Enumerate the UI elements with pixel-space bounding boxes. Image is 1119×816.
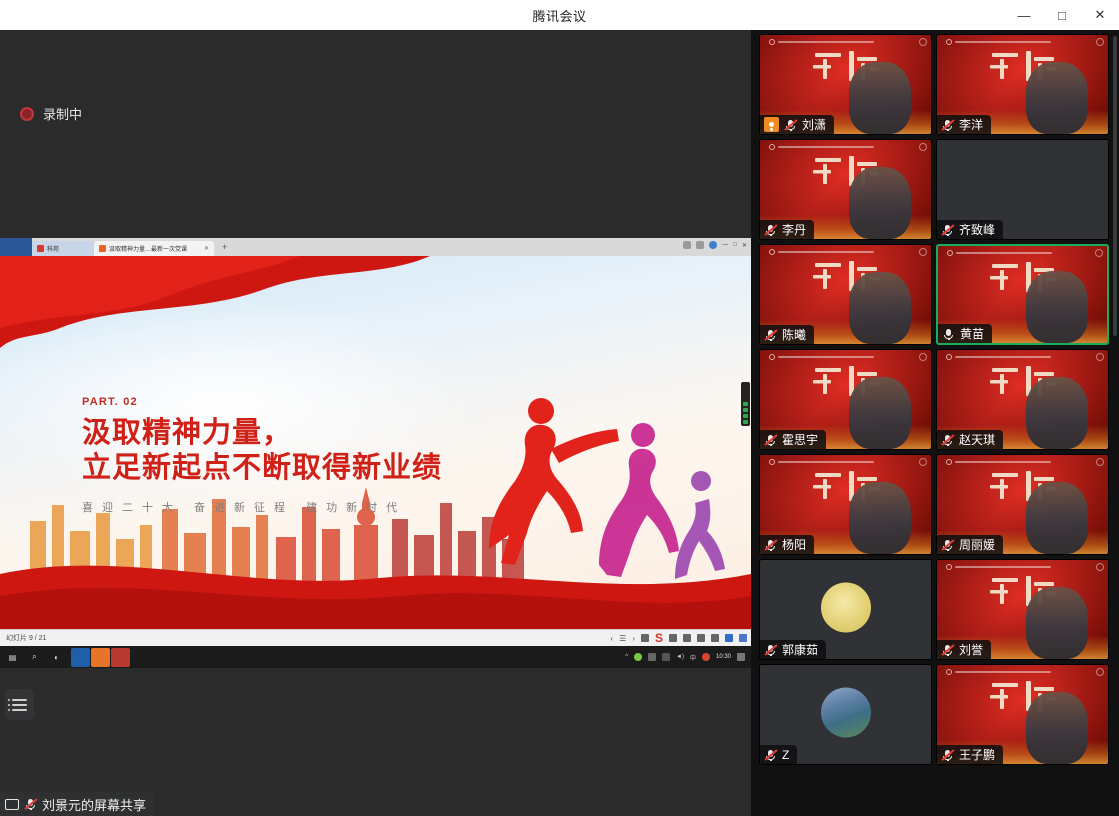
browser-tab-label: 科苑 [47,244,59,253]
participant-name: 杨阳 [782,536,806,553]
participant-silhouette [849,62,911,134]
red-flag-graphic [0,256,430,376]
participant-silhouette [849,377,911,449]
banner-text-line [955,41,1051,43]
participant-tile[interactable]: 李洋 [936,34,1109,135]
microphone-muted-icon [941,223,954,237]
participant-silhouette [849,272,911,344]
tray-ime-icon[interactable]: 中 [690,653,696,662]
participant-silhouette [1026,62,1088,134]
banner-text-line [778,461,874,463]
browser-tab-label: 汲取精神力量…最新一次党课 [109,244,187,253]
participant-name: 郭康茹 [782,641,818,658]
notification-icon[interactable] [737,653,745,661]
participant-name-bar: 齐致峰 [937,220,1003,239]
avatar [821,582,871,632]
wps-logo-icon: S [655,631,663,645]
recording-dot-icon [20,107,34,121]
window-title-bar: 腾讯会议 — □ ✕ [0,0,1119,30]
participant-name: 赵天琪 [959,431,995,448]
red-wave-graphic [0,534,751,629]
participant-tile[interactable]: Z [759,664,932,765]
participant-name-bar: 周丽媛 [937,535,1003,554]
slide-headline-line1: 汲取精神力量， [82,416,442,451]
participant-name: 王子鹏 [959,746,995,763]
participant-rail-scrollbar[interactable] [1113,36,1117,336]
slide-part-label: PART. 02 [82,396,442,408]
tray-expand-icon[interactable]: ^ [625,654,628,660]
corner-seal-icon [919,248,927,256]
close-icon[interactable]: ✕ [1081,0,1119,30]
virtual-background-banner [769,249,915,255]
seal-icon [769,39,775,45]
grid-icon[interactable] [739,634,747,642]
pen-icon[interactable] [683,634,691,642]
participant-name-bar: 霍思宇 [760,430,826,449]
favicon-icon [99,245,106,252]
taskbar-app-browser[interactable] [111,648,130,667]
corner-seal-icon [1096,353,1104,361]
virtual-background-banner [946,564,1092,570]
tray-network-icon[interactable] [662,653,670,661]
corner-seal-icon [1096,458,1104,466]
slide-nav-prev[interactable]: ‹ [610,634,613,643]
recording-label: 录制中 [43,104,82,123]
seal-icon [947,250,953,256]
microphone-muted-icon [941,118,954,132]
slide-page-indicator: 幻灯片 9 / 21 [6,633,46,643]
slide-nav-menu-icon[interactable]: ☰ [619,634,626,643]
favicon-icon [37,245,44,252]
screen-icon[interactable] [711,634,719,642]
virtual-background-banner [946,669,1092,675]
microphone-muted-icon [764,328,777,342]
meeting-window-body: 录制中 科苑 汲取精神力量…最新一次党课 ✕ + [0,30,1119,816]
participant-tile[interactable]: 陈曦 [759,244,932,345]
participant-tile[interactable]: 杨阳 [759,454,932,555]
microphone-muted-icon [764,748,777,762]
app-title: 腾讯会议 [532,6,586,25]
avatar [821,687,871,737]
corner-seal-icon [1096,563,1104,571]
corner-seal-icon [919,458,927,466]
participant-name-bar: 赵天琪 [937,430,1003,449]
corner-seal-icon [1096,38,1104,46]
microphone-muted-icon [764,643,777,657]
microphone-muted-icon [764,223,777,237]
banner-text-line [955,671,1051,673]
new-tab-icon[interactable]: + [222,242,227,252]
participant-tile[interactable]: 齐致峰 [936,139,1109,240]
participant-tile[interactable]: 刘潇 [759,34,932,135]
cortana-icon[interactable]: ◐ [49,650,64,665]
corner-seal-icon [1095,249,1103,257]
corner-seal-icon [919,353,927,361]
grid-icon[interactable] [696,241,704,249]
microphone-muted-icon [941,433,954,447]
banner-text-line [955,461,1051,463]
participant-name: 李丹 [782,221,806,238]
participant-name: 霍思宇 [782,431,818,448]
participant-name: 周丽媛 [959,536,995,553]
seal-icon [769,354,775,360]
participant-tile[interactable]: 刘誉 [936,559,1109,660]
search-icon[interactable]: ⌕ [27,650,42,665]
corner-seal-icon [919,143,927,151]
banner-text-line [778,146,874,148]
participant-name: 刘誉 [959,641,983,658]
participant-silhouette [1026,377,1088,449]
corner-seal-icon [1096,668,1104,676]
participant-name: 陈曦 [782,326,806,343]
participant-name-bar: 李丹 [760,220,814,239]
tray-volume-icon[interactable]: ◄) [676,654,684,660]
microphone-muted-icon [24,797,37,811]
participant-silhouette [1026,482,1088,554]
banner-text-line [778,41,874,43]
browser-tab-strip: 科苑 汲取精神力量…最新一次党课 ✕ + — □ ✕ [0,238,751,256]
maximize-icon[interactable]: □ [1043,0,1081,30]
participant-name-bar: 郭康茹 [760,640,826,659]
participant-name-bar: Z [760,745,797,764]
browser-tab-0[interactable]: 科苑 [32,241,94,256]
seal-icon [769,249,775,255]
virtual-background-banner [947,250,1091,256]
banner-text-line [955,566,1051,568]
slide-subtitle: 喜迎二十大 奋进新征程 建功新时代 [82,499,442,515]
participant-name-bar: 刘潇 [760,115,834,134]
host-badge-icon [764,117,779,132]
participant-name-bar: 陈曦 [760,325,814,344]
virtual-background-banner [769,39,915,45]
participant-name-bar: 李洋 [937,115,991,134]
taskbar-app-wps[interactable] [91,648,110,667]
maximize-icon[interactable]: □ [733,242,737,248]
banner-text-line [778,356,874,358]
participant-name: 齐致峰 [959,221,995,238]
microphone-muted-icon [764,538,777,552]
taskbar-clock[interactable]: 10:30 [716,654,731,660]
seal-icon [946,354,952,360]
participants-panel-toggle[interactable] [5,689,34,720]
participant-tile[interactable]: 郭康茹 [759,559,932,660]
participant-silhouette [1026,271,1088,343]
shared-screen-stage: 录制中 科苑 汲取精神力量…最新一次党课 ✕ + [0,30,751,816]
system-tray: ^ ◄) 中 10:30 [625,653,745,662]
seal-icon [769,144,775,150]
participant-tile[interactable]: 王子鹏 [936,664,1109,765]
virtual-background-banner [769,144,915,150]
corner-seal-icon [919,38,927,46]
virtual-background-banner [769,459,915,465]
shared-desktop-capture: 科苑 汲取精神力量…最新一次党课 ✕ + — □ ✕ [0,238,751,668]
minimize-icon[interactable]: — [722,242,728,248]
participant-name-bar: 刘誉 [937,640,991,659]
participant-tile[interactable]: 霍思宇 [759,349,932,450]
list-icon [12,699,27,711]
start-icon[interactable]: ▤ [5,650,20,665]
participant-tile[interactable]: 李丹 [759,139,932,240]
close-tab-icon[interactable]: ✕ [204,245,209,252]
tray-antivirus-icon[interactable] [634,653,642,661]
participant-tile[interactable]: 赵天琪 [936,349,1109,450]
account-avatar[interactable] [709,241,717,249]
participant-name: 黄苗 [960,325,984,342]
windows-taskbar: ▤ ⌕ ◐ ^ ◄) 中 10:30 [0,646,751,668]
close-icon[interactable]: ✕ [742,242,747,249]
slide-headline-line2: 立足新起点不断取得新业绩 [82,451,442,486]
banner-text-line [955,356,1051,358]
recording-indicator: 录制中 [20,104,82,123]
participant-name: Z [782,748,789,762]
minimize-icon[interactable]: — [1005,0,1043,30]
filter-icon[interactable] [725,634,733,642]
seal-icon [946,669,952,675]
presentation-toolbar: ‹ ☰ › S [610,631,747,645]
ime-icon[interactable] [669,634,677,642]
presentation-status-bar: 幻灯片 9 / 21 ‹ ☰ › S [0,629,751,646]
microphone-muted-icon [941,748,954,762]
audio-level-meter [741,382,750,426]
browser-logo-icon [0,238,32,256]
participant-name: 刘潇 [802,116,826,133]
participant-name: 李洋 [959,116,983,133]
taskbar-app-explorer[interactable] [71,648,90,667]
participant-grid: 刘潇李洋李丹齐致峰陈曦黄苗霍思宇赵天琪杨阳周丽媛郭康茹刘誉Z王子鹏 [759,34,1109,765]
virtual-background-banner [946,354,1092,360]
seal-icon [946,39,952,45]
participant-silhouette [1026,692,1088,764]
participant-rail[interactable]: 刘潇李洋李丹齐致峰陈曦黄苗霍思宇赵天琪杨阳周丽媛郭康茹刘誉Z王子鹏 [751,30,1119,816]
microphone-muted-icon [941,643,954,657]
participant-silhouette [849,482,911,554]
banner-text-line [778,251,874,253]
participant-name-bar: 黄苗 [938,324,992,343]
seal-icon [946,459,952,465]
microphone-muted-icon [784,118,797,132]
slide-text-block: PART. 02 汲取精神力量， 立足新起点不断取得新业绩 喜迎二十大 奋进新征… [82,396,442,515]
participant-silhouette [1026,587,1088,659]
virtual-background-banner [946,459,1092,465]
virtual-background-banner [769,354,915,360]
banner-text-line [956,252,1052,254]
presenter-name: 刘景元的屏幕共享 [42,795,146,814]
participant-tile[interactable]: 周丽媛 [936,454,1109,555]
tray-battery-icon[interactable] [648,653,656,661]
window-controls: — □ ✕ [1005,0,1119,30]
slide-nav-next[interactable]: › [632,634,635,643]
participant-tile[interactable]: 黄苗 [936,244,1109,345]
screen-share-icon [5,799,19,810]
note-icon[interactable] [641,634,649,642]
participant-name-bar: 王子鹏 [937,745,1003,764]
microphone-muted-icon [764,433,777,447]
browser-window-controls: — □ ✕ [683,241,747,249]
microphone-icon [942,327,955,341]
microphone-muted-icon [941,538,954,552]
participant-name-bar: 杨阳 [760,535,814,554]
microphone-icon[interactable] [697,634,705,642]
browser-tab-1[interactable]: 汲取精神力量…最新一次党课 ✕ [94,241,214,256]
virtual-background-banner [946,39,1092,45]
presentation-slide: PART. 02 汲取精神力量， 立足新起点不断取得新业绩 喜迎二十大 奋进新征… [0,256,751,629]
tray-app-icon[interactable] [702,653,710,661]
seal-icon [946,564,952,570]
screen-share-banner: 刘景元的屏幕共享 [0,792,154,816]
restore-icon[interactable] [683,241,691,249]
seal-icon [769,459,775,465]
participant-silhouette [849,167,911,239]
